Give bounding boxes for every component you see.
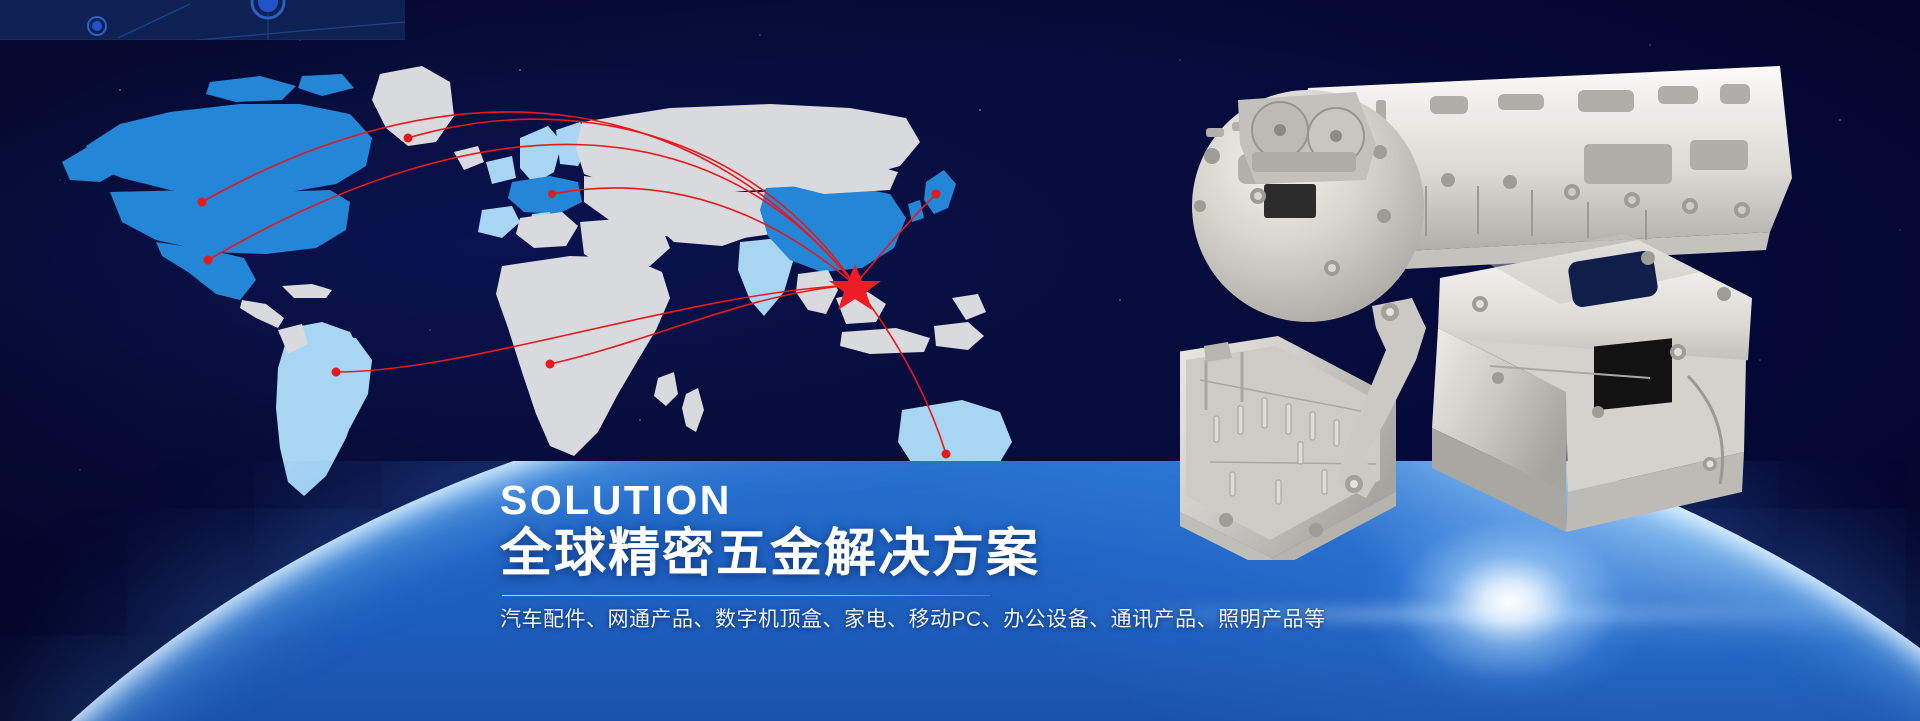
endpoint-north-america-west (198, 198, 207, 207)
endpoint-greenland (404, 134, 413, 143)
endpoint-east-asia-japan (932, 190, 941, 199)
region-scandinavia (520, 126, 562, 184)
region-korea (908, 200, 924, 222)
endpoint-europe-central (548, 190, 556, 198)
band-lines (0, 0, 405, 40)
page-title: 全球精密五金解决方案 (500, 525, 1220, 583)
region-united-states (110, 190, 350, 254)
divider-rule (502, 595, 990, 596)
part-round-stamped-disc (1192, 90, 1424, 322)
top-decorative-band (0, 0, 405, 40)
endpoint-central-africa (546, 360, 555, 369)
region-australia (898, 400, 1012, 482)
subtitle-text: 汽车配件、网通产品、数字机顶盒、家电、移动PC、办公设备、通讯产品、照明产品等 (500, 609, 1220, 630)
banner-copy: SOLUTION 全球精密五金解决方案 汽车配件、网通产品、数字机顶盒、家电、移… (500, 480, 1220, 630)
region-greenland (372, 66, 454, 146)
region-madagascar (682, 388, 704, 432)
solution-banner: .ld{fill:#d9dade;} .hl{fill:#2386d6;} .l… (0, 0, 1920, 721)
eyebrow-text: SOLUTION (500, 480, 1220, 521)
part-l-shaped-chassis-bracket (1338, 234, 1752, 532)
endpoint-south-america-north (332, 368, 341, 377)
endpoint-australia-east (942, 450, 951, 459)
endpoint-mexico (204, 256, 213, 265)
region-germany-france-poland (508, 176, 582, 214)
hardware-parts-group (1180, 60, 1920, 560)
region-canada (86, 104, 372, 196)
region-iberia-italy (478, 206, 520, 238)
